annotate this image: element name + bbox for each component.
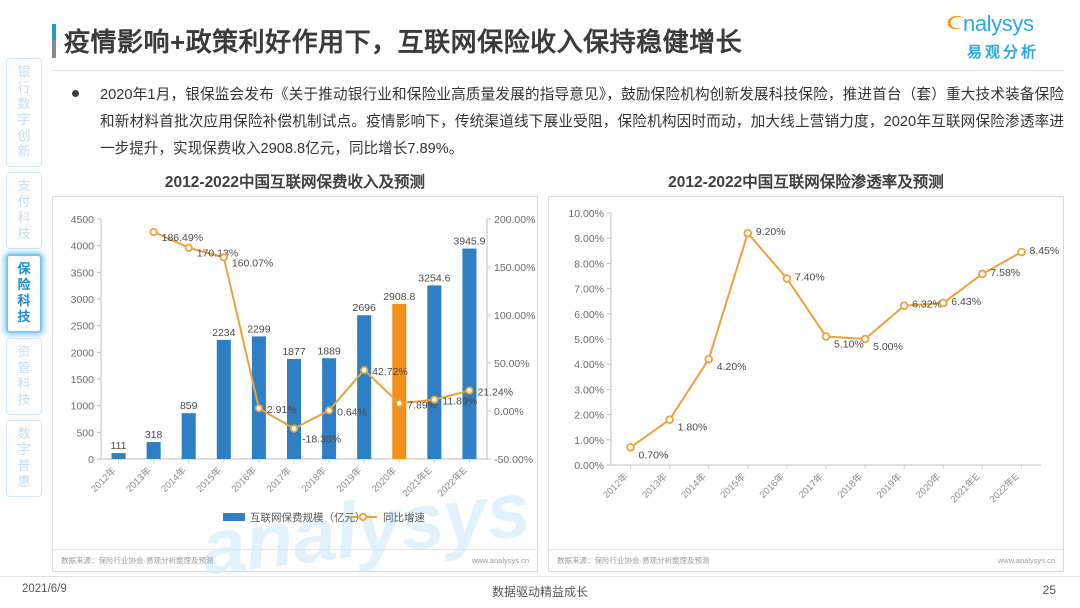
svg-text:1.00%: 1.00% <box>574 435 604 447</box>
source-note: 数据来源：保险行业协会·易观分析整理及预测 <box>61 555 214 566</box>
sidebar-char: 保 <box>8 261 40 277</box>
svg-text:160.07%: 160.07% <box>232 257 273 269</box>
svg-text:2017年: 2017年 <box>796 470 827 501</box>
site-url: www.analysys.cn <box>998 556 1055 565</box>
svg-text:9.00%: 9.00% <box>574 233 604 245</box>
svg-text:2014年: 2014年 <box>679 470 710 501</box>
sidebar-item-inclusive-finance[interactable]: 数 字 普 惠 <box>6 420 42 497</box>
svg-text:6.43%: 6.43% <box>951 296 981 308</box>
svg-text:42.72%: 42.72% <box>372 366 408 378</box>
svg-text:150.00%: 150.00% <box>494 262 535 274</box>
svg-text:2019年: 2019年 <box>874 470 905 501</box>
svg-text:2013年: 2013年 <box>124 464 155 495</box>
svg-text:6.00%: 6.00% <box>574 309 604 321</box>
svg-text:2013年: 2013年 <box>640 470 671 501</box>
chart-title-left: 2012-2022中国互联网保费收入及预测 <box>52 170 538 192</box>
svg-text:6.32%: 6.32% <box>912 299 942 311</box>
source-note: 数据来源：保险行业协会·易观分析整理及预测 <box>557 555 710 566</box>
svg-text:2908.8: 2908.8 <box>383 291 415 303</box>
svg-text:8.00%: 8.00% <box>574 258 604 270</box>
sidebar-char: 数 <box>7 96 41 112</box>
site-url: www.analysys.cn <box>472 556 529 565</box>
svg-text:7.00%: 7.00% <box>574 284 604 296</box>
svg-text:4500: 4500 <box>71 214 95 226</box>
line-chart-penetration-rate: 0.00%1.00%2.00%3.00%4.00%5.00%6.00%7.00%… <box>549 197 1065 573</box>
sidebar-char: 字 <box>7 442 41 458</box>
slide-header: 疫情影响+政策利好作用下，互联网保险收入保持稳健增长 nalysys 易观分析 <box>0 0 1080 72</box>
svg-text:10.00%: 10.00% <box>568 208 604 220</box>
svg-text:1877: 1877 <box>282 346 306 358</box>
svg-text:2017年: 2017年 <box>264 464 295 495</box>
svg-text:2018年: 2018年 <box>835 470 866 501</box>
svg-text:2022年E: 2022年E <box>435 465 470 500</box>
svg-text:7.58%: 7.58% <box>990 267 1020 279</box>
svg-text:0: 0 <box>88 454 94 466</box>
svg-text:111: 111 <box>111 440 127 452</box>
svg-text:5.10%: 5.10% <box>834 338 864 350</box>
logo-wordmark: nalysys <box>963 11 1034 37</box>
svg-text:1000: 1000 <box>71 401 95 413</box>
svg-text:3254.6: 3254.6 <box>418 272 450 284</box>
svg-text:-50.00%: -50.00% <box>494 454 533 466</box>
page-title: 疫情影响+政策利好作用下，互联网保险收入保持稳健增长 <box>64 22 742 59</box>
svg-text:互联网保费规模（亿元）: 互联网保费规模（亿元） <box>250 511 366 524</box>
svg-text:50.00%: 50.00% <box>494 358 530 370</box>
sidebar-item-asset-mgmt[interactable]: 资 管 科 技 <box>6 338 42 415</box>
sidebar-char: 技 <box>7 392 41 408</box>
sidebar-char: 资 <box>7 344 41 360</box>
svg-text:2018年: 2018年 <box>299 464 330 495</box>
svg-text:2014年: 2014年 <box>159 464 190 495</box>
svg-text:0.70%: 0.70% <box>639 449 669 461</box>
svg-text:200.00%: 200.00% <box>494 214 535 226</box>
analysys-logo: nalysys 易观分析 <box>944 10 1062 64</box>
panel-footer-right: 数据来源：保险行业协会·易观分析整理及预测 www.analysys.cn <box>549 549 1063 571</box>
svg-text:4.20%: 4.20% <box>717 361 747 373</box>
svg-text:3000: 3000 <box>71 294 95 306</box>
footer-slogan: 数据驱动精益成长 <box>0 583 1080 600</box>
svg-text:5.00%: 5.00% <box>574 334 604 346</box>
combo-chart-premium-income: 050010001500200025003000350040004500-50.… <box>53 197 539 573</box>
svg-text:7.40%: 7.40% <box>795 272 825 284</box>
svg-text:100.00%: 100.00% <box>494 310 535 322</box>
svg-text:2299: 2299 <box>247 323 271 335</box>
svg-text:2022年E: 2022年E <box>987 471 1022 506</box>
svg-text:2000: 2000 <box>71 347 95 359</box>
svg-text:1.80%: 1.80% <box>678 422 708 434</box>
sidebar-char: 科 <box>8 293 40 309</box>
svg-text:2500: 2500 <box>71 321 95 333</box>
sidebar-char: 科 <box>7 376 41 392</box>
slide-footer: 2021/6/9 数据驱动精益成长 25 <box>0 580 1080 606</box>
sidebar-char: 技 <box>8 309 40 325</box>
svg-text:2696: 2696 <box>353 302 377 314</box>
sidebar-char: 支 <box>7 178 41 194</box>
svg-text:2019年: 2019年 <box>334 464 365 495</box>
svg-text:3.00%: 3.00% <box>574 384 604 396</box>
sidebar-char: 管 <box>7 360 41 376</box>
svg-text:2234: 2234 <box>212 327 236 339</box>
svg-text:2012年: 2012年 <box>89 464 120 495</box>
bullet-text: 2020年1月，银保监会发布《关于推动银行业和保险业高质量发展的指导意见》，鼓励… <box>100 82 1064 163</box>
svg-text:4.00%: 4.00% <box>574 359 604 371</box>
sidebar-char: 数 <box>7 426 41 442</box>
svg-text:2016年: 2016年 <box>229 464 260 495</box>
sidebar-char: 银 <box>7 64 41 80</box>
slide-root: 疫情影响+政策利好作用下，互联网保险收入保持稳健增长 nalysys 易观分析 … <box>0 0 1080 608</box>
svg-text:2012年: 2012年 <box>601 470 632 501</box>
chart-panel-penetration-rate: analysys 易观分析 0.00%1.00%2.00%3.00%4.00%5… <box>548 196 1064 572</box>
svg-text:186.49%: 186.49% <box>162 232 203 244</box>
svg-text:21.24%: 21.24% <box>477 387 513 399</box>
svg-text:-18.36%: -18.36% <box>302 434 341 446</box>
logo-chinese: 易观分析 <box>944 41 1062 62</box>
svg-text:2020年: 2020年 <box>913 470 944 501</box>
sidebar-item-insurance[interactable]: 保 险 科 技 <box>6 254 42 333</box>
svg-text:0.64%: 0.64% <box>337 406 367 418</box>
svg-text:2020年: 2020年 <box>369 464 400 495</box>
svg-text:318: 318 <box>145 429 163 441</box>
sidebar-char: 付 <box>7 194 41 210</box>
sidebar-item-bank[interactable]: 银 行 数 字 创 新 <box>6 58 42 167</box>
svg-text:2021年E: 2021年E <box>400 465 435 500</box>
svg-text:1500: 1500 <box>71 374 95 386</box>
chart-panel-premium-income: analysys 0500100015002000250030003500400… <box>52 196 538 572</box>
sidebar-char: 科 <box>7 210 41 226</box>
svg-text:9.20%: 9.20% <box>756 226 786 238</box>
sidebar-char: 字 <box>7 112 41 128</box>
sidebar-char: 技 <box>7 226 41 242</box>
sidebar-char: 创 <box>7 128 41 144</box>
sidebar-char: 新 <box>7 144 41 160</box>
svg-text:859: 859 <box>180 400 198 412</box>
header-divider <box>52 70 1064 71</box>
sidebar-char: 普 <box>7 458 41 474</box>
svg-text:8.45%: 8.45% <box>1029 245 1059 257</box>
svg-text:2015年: 2015年 <box>194 464 225 495</box>
sidebar-char: 险 <box>8 277 40 293</box>
svg-text:2021年E: 2021年E <box>948 471 983 506</box>
title-accent-bar <box>52 24 56 58</box>
category-sidebar: 银 行 数 字 创 新 支 付 科 技 保 险 科 技 资 管 科 技 数 字 <box>4 58 44 502</box>
sidebar-char: 惠 <box>7 474 41 490</box>
page-number: 25 <box>1043 583 1056 597</box>
svg-text:4000: 4000 <box>71 241 95 253</box>
footer-divider <box>0 576 1080 577</box>
svg-text:同比增速: 同比增速 <box>383 511 425 524</box>
svg-text:2015年: 2015年 <box>718 470 749 501</box>
svg-text:5.00%: 5.00% <box>873 341 903 353</box>
svg-text:2.91%: 2.91% <box>267 404 297 416</box>
sidebar-char: 行 <box>7 80 41 96</box>
svg-text:3500: 3500 <box>71 267 95 279</box>
svg-text:500: 500 <box>76 427 94 439</box>
panel-footer-left: 数据来源：保险行业协会·易观分析整理及预测 www.analysys.cn <box>53 549 537 571</box>
svg-text:0.00%: 0.00% <box>574 460 604 472</box>
svg-text:3945.9: 3945.9 <box>453 236 485 248</box>
sidebar-item-payment[interactable]: 支 付 科 技 <box>6 172 42 249</box>
svg-text:1889: 1889 <box>317 345 341 357</box>
svg-text:0.00%: 0.00% <box>494 406 524 418</box>
svg-text:2016年: 2016年 <box>757 470 788 501</box>
svg-text:11.89%: 11.89% <box>442 396 477 408</box>
chart-title-right: 2012-2022中国互联网保险渗透率及预测 <box>548 170 1064 192</box>
svg-text:2.00%: 2.00% <box>574 410 604 422</box>
bullet-paragraph: 2020年1月，银保监会发布《关于推动银行业和保险业高质量发展的指导意见》，鼓励… <box>64 82 1064 163</box>
bullet-dot-icon <box>72 90 79 97</box>
